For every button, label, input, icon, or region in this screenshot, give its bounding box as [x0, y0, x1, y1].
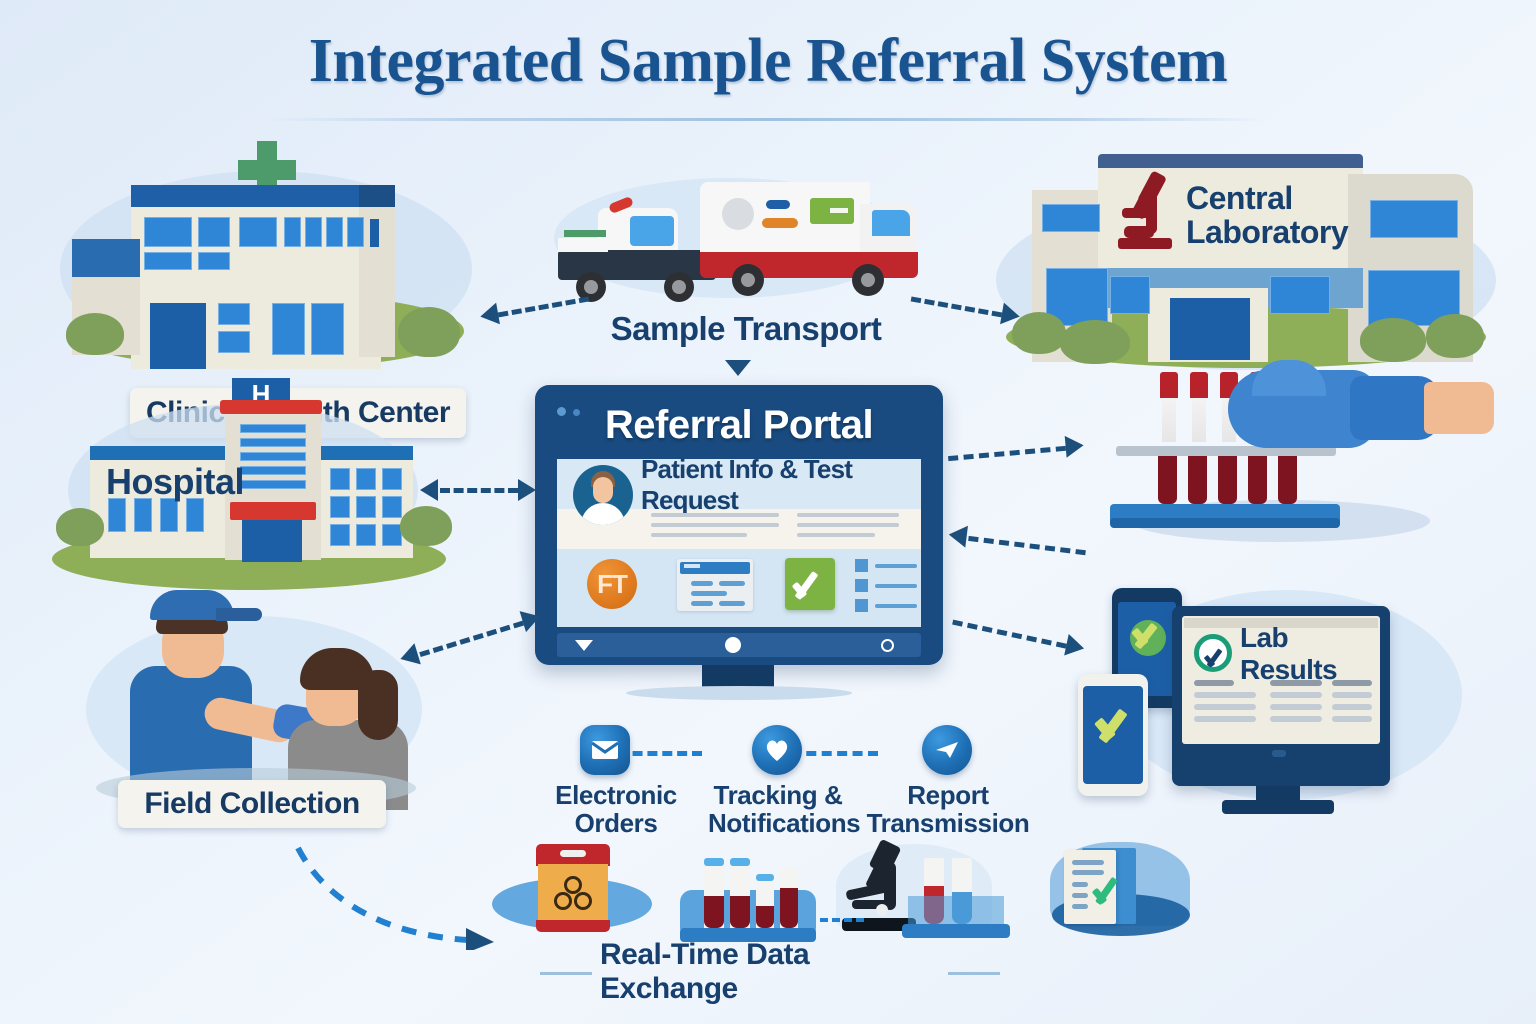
caption-dash-right [948, 972, 1000, 975]
feature-label: Tracking & Notifications [708, 781, 848, 837]
clinic-window [198, 252, 230, 270]
monitor-base [1222, 800, 1334, 814]
real-time-caption: Real-Time Data Exchange [600, 950, 940, 994]
clinic-window [144, 217, 192, 247]
clinic-window [218, 303, 250, 325]
clinic-window [326, 217, 343, 247]
central-lab-label-text: Central Laboratory [1186, 182, 1366, 250]
sample-transport-label[interactable]: Sample Transport [586, 308, 906, 350]
ft-badge[interactable]: FT [587, 559, 637, 609]
clinic-window [347, 217, 364, 247]
portal-title-text: Referral Portal [605, 403, 873, 447]
lab-bush [1426, 314, 1484, 358]
lab-bush [1012, 312, 1066, 354]
arrow-hospital-portal [420, 478, 538, 502]
feature-electronic-orders[interactable]: Electronic Orders [538, 725, 710, 835]
lab-bush [1360, 318, 1426, 362]
clinic-window [311, 303, 344, 355]
referral-portal[interactable]: Referral Portal Patient Info & Test Requ… [535, 385, 943, 665]
hospital-roof-right [318, 446, 413, 460]
hospital-window [134, 498, 152, 532]
portal-title: Referral Portal [535, 401, 943, 449]
portal-screen[interactable]: Patient Info & Test Request FT [557, 459, 921, 627]
central-lab-label[interactable]: Central Laboratory [1186, 168, 1366, 264]
clinic-roof-side [359, 185, 395, 207]
feature-label: Report Transmission [850, 781, 1046, 837]
page-title: Integrated Sample Referral System [0, 26, 1536, 97]
portal-circle-button[interactable] [881, 639, 894, 652]
infographic-canvas: Integrated Sample Referral System [0, 0, 1536, 1024]
envelope-icon [580, 725, 630, 775]
sample-transport-node[interactable]: Sample Transport [540, 160, 960, 360]
green-check-icon[interactable] [785, 558, 835, 610]
chevron-down-icon[interactable] [575, 640, 593, 651]
hospital-window-grid [330, 468, 402, 548]
feature-report-transmission[interactable]: Report Transmission [872, 725, 1062, 835]
arrow-field-to-bottom [290, 840, 520, 950]
real-time-caption-text: Real-Time Data Exchange [600, 938, 940, 1006]
portal-stand-base [626, 686, 852, 700]
lab-results-label-text: Lab Results [1240, 622, 1380, 686]
caption-dash-left [540, 972, 592, 975]
heart-glyph [764, 738, 790, 762]
arrow-transport-to-portal [725, 360, 751, 376]
heart-pulse-icon [752, 725, 802, 775]
check-circle-icon [1194, 634, 1232, 672]
clinic-window [284, 217, 301, 247]
feature-label: Electronic Orders [526, 781, 706, 837]
hospital-window [108, 498, 126, 532]
clinic-window [144, 252, 192, 270]
test-tube-rack-icon[interactable] [678, 844, 818, 950]
hospital-label-text: Hospital [106, 461, 244, 503]
specimen-rack-node [1100, 360, 1520, 560]
lab-door [1170, 298, 1250, 360]
portal-form-title: Patient Info & Test Request [641, 464, 915, 506]
checklist-icon[interactable] [855, 559, 917, 611]
portal-home-button[interactable] [725, 637, 741, 653]
features-row: Electronic Orders Tracking & Notificatio… [460, 705, 1040, 835]
send-paper-plane-icon [922, 725, 972, 775]
title-divider [268, 118, 1268, 121]
clinic-bush [66, 313, 124, 355]
gloved-hand-icon [1228, 360, 1488, 470]
sample-transport-label-text: Sample Transport [611, 310, 882, 348]
verified-report-icon[interactable] [1028, 836, 1218, 948]
hospital-entrance [242, 520, 302, 562]
field-collection-label-chip[interactable]: Field Collection [118, 780, 386, 828]
envelope-glyph [591, 740, 619, 760]
clinic-window [218, 331, 250, 353]
portal-bottom-bar [557, 633, 921, 657]
clinic-window [198, 217, 230, 247]
hospital-bush [56, 508, 104, 546]
microscope-icon [1116, 170, 1180, 254]
lab-bush [1060, 320, 1130, 364]
lab-results-node[interactable]: Lab Results [1060, 570, 1510, 820]
clinic-roof [131, 185, 381, 207]
ambulance-van-icon [700, 176, 920, 300]
hospital-sign-base [220, 400, 322, 414]
paper-plane-glyph [934, 739, 960, 761]
lab-results-label: Lab Results [1240, 636, 1380, 672]
clinic-window [305, 217, 322, 247]
patient-avatar-icon [573, 465, 633, 525]
clinic-door [150, 303, 206, 369]
hospital-node[interactable]: H [40, 378, 460, 608]
bottom-connector [820, 918, 864, 922]
clinic-window [272, 303, 305, 355]
lab-window [1042, 204, 1100, 232]
arrow-portal-to-lab [947, 432, 1089, 474]
form-card-icon[interactable] [677, 559, 753, 611]
clinic-window [239, 217, 277, 247]
hospital-label[interactable]: Hospital [106, 462, 286, 502]
green-check-icon [1094, 874, 1128, 908]
phone-front[interactable] [1078, 674, 1148, 796]
lab-facade-roof [1098, 154, 1363, 168]
hospital-window [186, 498, 204, 532]
clinic-canopy [72, 239, 140, 277]
ft-badge-text: FT [597, 569, 627, 600]
hospital-bush [400, 506, 452, 546]
hospital-awning [230, 502, 316, 520]
lab-window [1270, 276, 1330, 314]
lab-window [1110, 276, 1150, 314]
hospital-roof-left [90, 446, 227, 460]
central-lab-node[interactable]: Central Laboratory [990, 138, 1510, 388]
portal-form-title-text: Patient Info & Test Request [641, 454, 915, 516]
rack-base-shadow [1110, 518, 1340, 528]
field-collection-label-text: Field Collection [144, 787, 359, 821]
health-worker [118, 586, 278, 796]
microscope-tubes-icon[interactable] [832, 836, 1012, 950]
biohazard-symbol [554, 876, 592, 912]
clinic-node[interactable]: Clinic & Health Center [46, 135, 486, 375]
hospital-window [160, 498, 178, 532]
lab-results-monitor[interactable]: Lab Results [1172, 606, 1390, 786]
clinic-window [370, 219, 379, 247]
clinic-bush [398, 307, 460, 357]
arrow-lab-to-portal [947, 522, 1090, 569]
lab-window [1370, 200, 1458, 238]
